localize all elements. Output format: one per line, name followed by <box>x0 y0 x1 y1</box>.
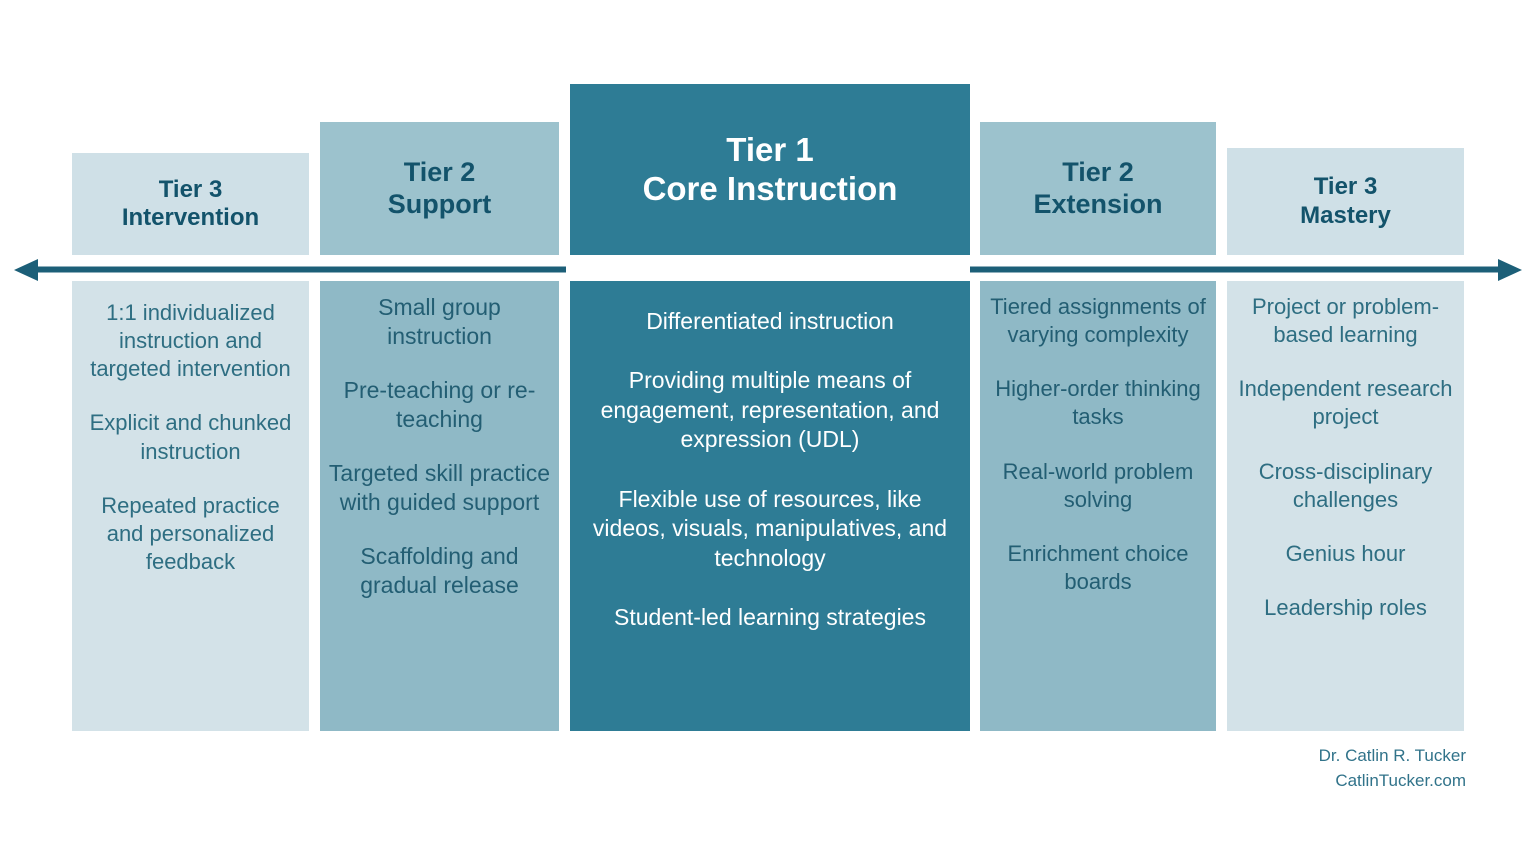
tier-label: Tier 2 <box>1062 157 1134 189</box>
tier-3-intervention-body: 1:1 individualized instruction and targe… <box>72 281 309 731</box>
tier-subtitle: Extension <box>1033 189 1162 221</box>
list-item: Leadership roles <box>1233 594 1458 622</box>
tier-1-core-instruction-header: Tier 1 Core Instruction <box>570 84 970 255</box>
attribution: Dr. Catlin R. Tucker CatlinTucker.com <box>1166 744 1466 793</box>
list-item: 1:1 individualized instruction and targe… <box>82 299 299 383</box>
tier-1-core-instruction-body: Differentiated instruction Providing mul… <box>570 281 970 731</box>
attribution-author: Dr. Catlin R. Tucker <box>1166 744 1466 769</box>
list-item: Tiered assignments of varying complexity <box>986 293 1210 349</box>
list-item: Repeated practice and personalized feedb… <box>82 492 299 576</box>
tier-label: Tier 2 <box>404 157 476 189</box>
list-item: Targeted skill practice with guided supp… <box>328 459 551 518</box>
tier-columns: Tier 3 Intervention 1:1 individualized i… <box>0 0 1536 864</box>
list-item: Scaffolding and gradual release <box>328 542 551 601</box>
tier-label: Tier 3 <box>1314 173 1378 201</box>
tier-2-support-body: Small group instruction Pre-teaching or … <box>320 281 559 731</box>
list-item: Student-led learning strategies <box>586 603 954 632</box>
tier-3-mastery-body: Project or problem-based learning Indepe… <box>1227 281 1464 731</box>
list-item: Flexible use of resources, like videos, … <box>586 485 954 573</box>
tier-label: Tier 1 <box>726 131 813 170</box>
tier-3-intervention-header: Tier 3 Intervention <box>72 153 309 255</box>
list-item: Cross-disciplinary challenges <box>1233 458 1458 514</box>
attribution-website: CatlinTucker.com <box>1166 769 1466 794</box>
tier-subtitle: Intervention <box>122 204 259 232</box>
list-item: Genius hour <box>1233 540 1458 568</box>
list-item: Project or problem-based learning <box>1233 293 1458 349</box>
tier-2-extension-header: Tier 2 Extension <box>980 122 1216 255</box>
tier-subtitle: Mastery <box>1300 202 1391 230</box>
diagram-canvas: Tier 3 Intervention 1:1 individualized i… <box>0 0 1536 864</box>
list-item: Differentiated instruction <box>586 307 954 336</box>
tier-3-mastery-header: Tier 3 Mastery <box>1227 148 1464 255</box>
tier-label: Tier 3 <box>159 176 223 204</box>
list-item: Independent research project <box>1233 375 1458 431</box>
list-item: Explicit and chunked instruction <box>82 409 299 465</box>
tier-subtitle: Support <box>388 189 491 221</box>
list-item: Higher-order thinking tasks <box>986 375 1210 431</box>
tier-2-support-header: Tier 2 Support <box>320 122 559 255</box>
list-item: Enrichment choice boards <box>986 540 1210 596</box>
list-item: Small group instruction <box>328 293 551 352</box>
list-item: Providing multiple means of engagement, … <box>586 366 954 454</box>
list-item: Real-world problem solving <box>986 458 1210 514</box>
tier-subtitle: Core Instruction <box>643 170 898 209</box>
list-item: Pre-teaching or re-teaching <box>328 376 551 435</box>
tier-2-extension-body: Tiered assignments of varying complexity… <box>980 281 1216 731</box>
